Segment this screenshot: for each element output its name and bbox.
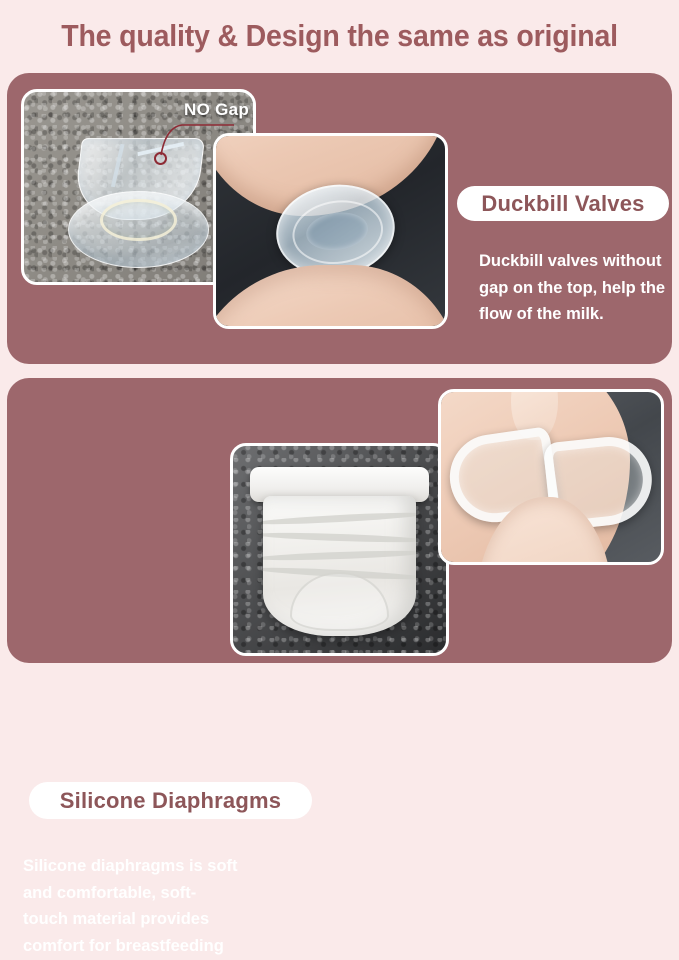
badge-duckbill-valves: Duckbill Valves bbox=[457, 186, 669, 221]
cup-ridge bbox=[263, 549, 416, 562]
cup-ridge bbox=[263, 511, 416, 527]
photo-valve-in-fingers bbox=[213, 133, 448, 329]
panel-duckbill-valves: NO Gap Duckbill Valves Duckbill valves w… bbox=[7, 73, 672, 364]
cup-dome bbox=[290, 572, 388, 631]
valve-slit bbox=[111, 143, 125, 187]
description-silicone-diaphragms: Silicone diaphragms is soft and comforta… bbox=[23, 853, 241, 960]
photo-diaphragm-in-hand bbox=[438, 389, 664, 565]
diaphragm-cup-body bbox=[263, 496, 416, 637]
header: The quality & Design the same as origina… bbox=[0, 0, 679, 72]
photo-diaphragm-cup bbox=[230, 443, 449, 656]
description-duckbill-valves: Duckbill valves without gap on the top, … bbox=[479, 248, 669, 328]
finger-lower bbox=[213, 265, 448, 329]
panel-silicone-diaphragms: Silicone Diaphragms Silicone diaphragms … bbox=[7, 378, 672, 663]
cup-ridge bbox=[263, 531, 416, 544]
no-gap-label: NO Gap bbox=[184, 100, 249, 120]
badge-silicone-diaphragms: Silicone Diaphragms bbox=[29, 782, 312, 819]
no-gap-marker-icon bbox=[154, 152, 167, 165]
valve-ring bbox=[100, 199, 176, 242]
page-title: The quality & Design the same as origina… bbox=[61, 18, 618, 54]
